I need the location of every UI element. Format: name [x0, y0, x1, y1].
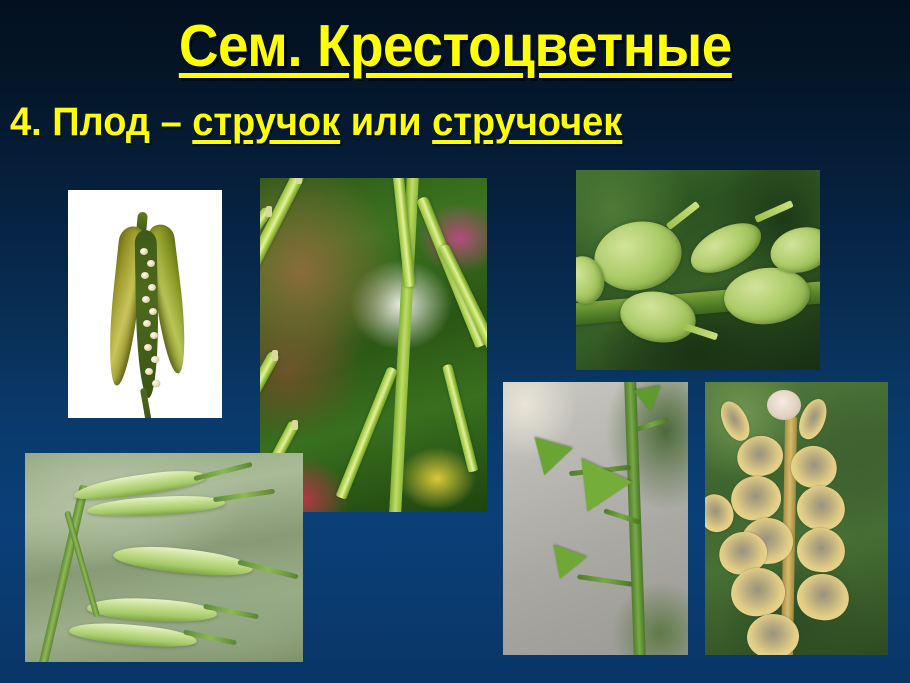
silique-seed: [145, 368, 153, 375]
pennycress-silicles-photo: [705, 382, 888, 655]
capsella-pedicel: [635, 417, 669, 432]
page-title: Сем. Крестоцветные: [178, 16, 731, 76]
subtitle-term-struchochek: стручочек: [432, 100, 622, 144]
thlaspi-pod: [728, 473, 784, 524]
radish-lomentum-pods-photo: [25, 453, 303, 662]
subtitle-term-strucok: стручок: [192, 100, 340, 144]
silique-seed: [148, 284, 156, 291]
thlaspi-pod: [794, 571, 852, 624]
radish-pod-beak: [213, 489, 275, 503]
silique-pod-tip: [272, 350, 278, 361]
silique-seed: [140, 248, 148, 255]
silicle-style: [666, 201, 700, 230]
silique-seed: [142, 296, 150, 303]
subtitle-conjunction: или: [340, 100, 432, 144]
radish-pod: [68, 619, 197, 650]
silique-seed: [143, 320, 151, 327]
radish-pod-beak: [193, 462, 252, 481]
hairy-silicles-closeup-photo: [576, 170, 820, 370]
shepherds-purse-silicles-photo: [503, 382, 688, 655]
capsella-pedicel: [577, 574, 633, 587]
subtitle-line: 4. Плод – стручок или стручочек: [10, 101, 622, 143]
silicle-style: [754, 200, 793, 223]
silique-pod-tip: [266, 206, 272, 217]
silique-seed: [149, 308, 157, 315]
silique-pod-tip: [296, 178, 302, 184]
silique-seed: [151, 356, 159, 363]
subtitle-lead: 4. Плод –: [10, 100, 192, 144]
thlaspi-pod: [794, 525, 848, 575]
silique-pod: [442, 364, 478, 473]
subtitle-block: 4. Плод – стручок или стручочек: [10, 101, 900, 143]
silique-pod: [336, 366, 399, 500]
capsella-pod: [525, 437, 573, 481]
silique-seed: [150, 332, 158, 339]
slide-canvas: Сем. Крестоцветные 4. Плод – стручок или…: [0, 0, 910, 683]
silicle-pod: [721, 264, 812, 329]
radish-pod: [87, 596, 218, 625]
silique-pod-tip: [292, 420, 298, 430]
capsella-pod: [633, 386, 665, 414]
radish-pod: [112, 542, 254, 581]
thlaspi-flower: [767, 390, 801, 420]
thlaspi-pod: [794, 482, 849, 534]
silique-seed: [141, 272, 149, 279]
silique-seed: [144, 344, 152, 351]
botanical-drawing-opened-silique: [68, 190, 222, 418]
title-block: Сем. Крестоцветные: [0, 16, 910, 76]
silique-seed: [147, 260, 155, 267]
silique-seed: [152, 380, 160, 387]
silique-pod: [260, 178, 306, 354]
